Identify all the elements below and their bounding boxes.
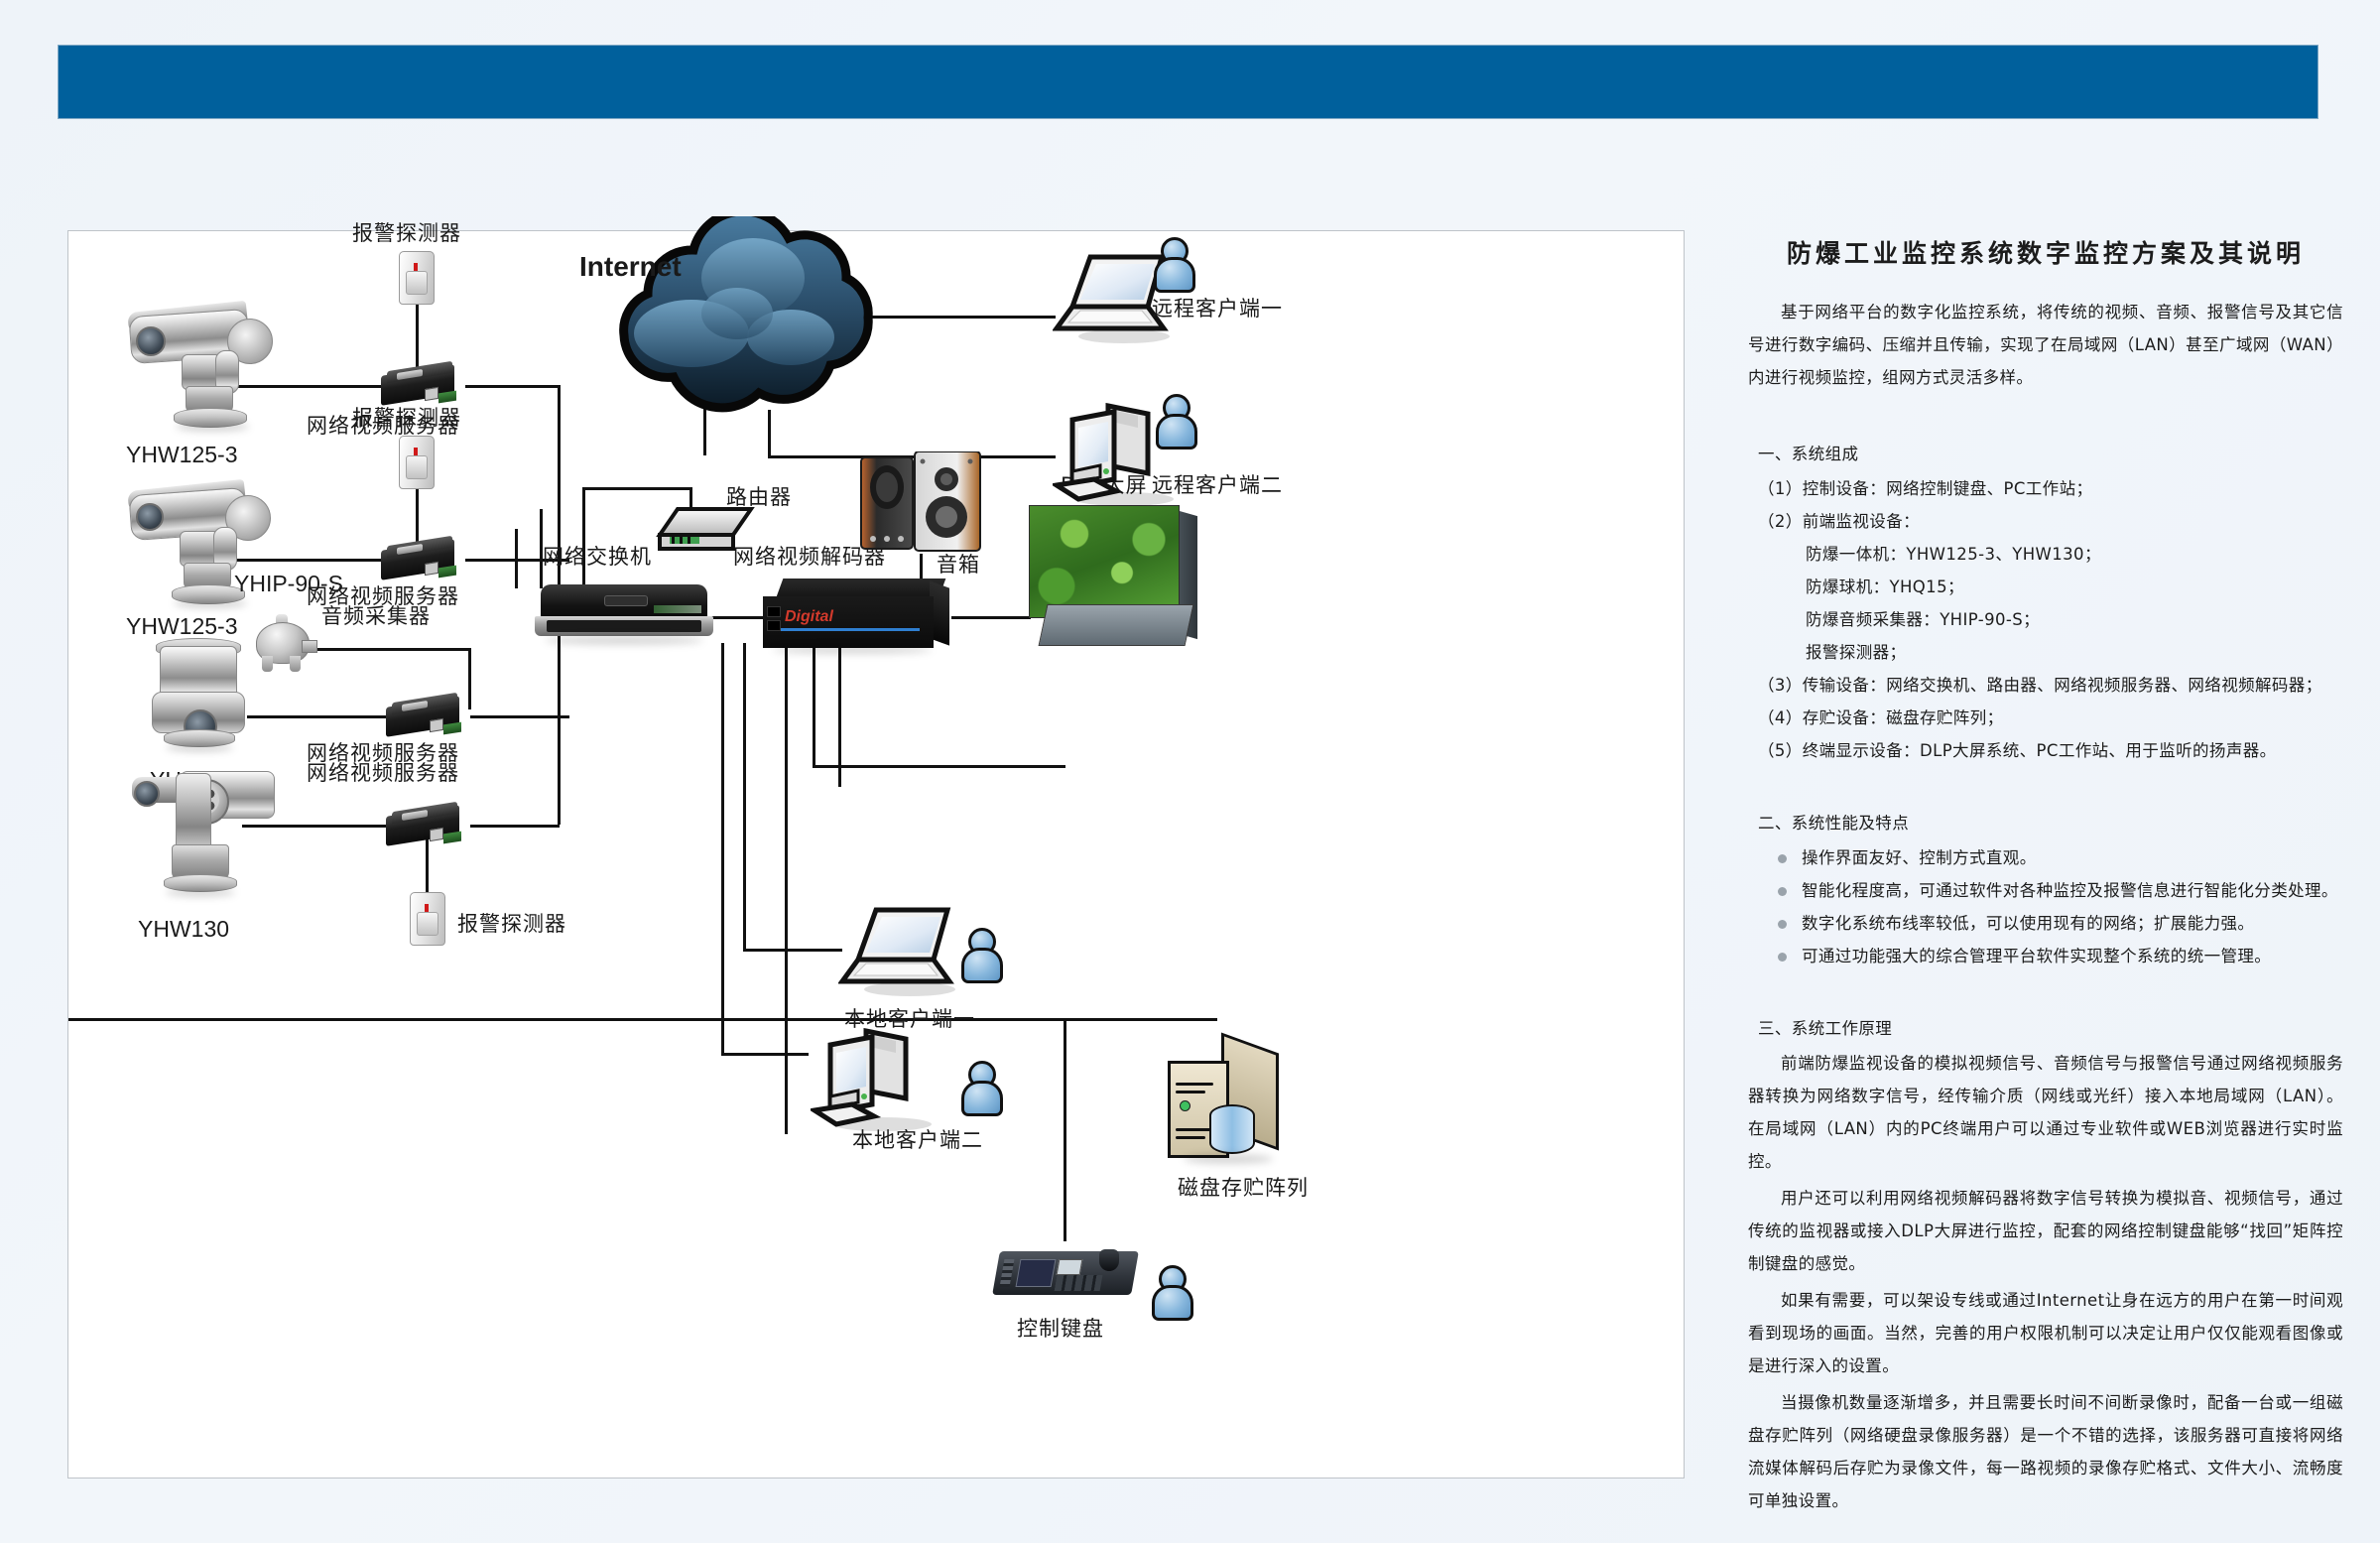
control-keyboard-label: 控制键盘 (1017, 1313, 1104, 1343)
internet-label: Internet (579, 251, 682, 283)
network-video-decoder: Digital (763, 579, 951, 656)
dlp-big-screen (1029, 505, 1197, 656)
link-cloud-to-remote1 (872, 316, 1056, 319)
section-1-item-3: （3）传输设备：网络交换机、路由器、网络视频服务器、网络视频解码器； (1758, 669, 2343, 702)
section-3-paragraph-1: 前端防爆监视设备的模拟视频信号、音频信号与报警信号通过网络视频服务器转换为网络数… (1748, 1047, 2343, 1178)
link-audio-to-vserver3 (312, 648, 470, 651)
section-3-paragraph-4: 当摄像机数量逐渐增多，并且需要长时间不间断录像时，配备一台或一组磁盘存贮阵列（网… (1748, 1386, 2343, 1517)
video-server-3 (386, 694, 471, 737)
section-1-item-4: （4）存贮设备：磁盘存贮阵列； (1758, 702, 2343, 734)
alarm-detector-1 (399, 251, 433, 303)
switch-uplink-1 (515, 529, 518, 588)
network-switch (535, 584, 713, 644)
header-accent-bar (58, 45, 2318, 119)
document-column: 防爆工业监控系统数字监控方案及其说明 基于网络平台的数字化监控系统，将传统的视频… (1748, 234, 2343, 1521)
local-client-2-label: 本地客户端二 (852, 1124, 983, 1154)
control-keyboard-avatar (1150, 1265, 1190, 1317)
link-to-local1 (743, 949, 842, 952)
alarm-detector-2-label: 报警探测器 (352, 402, 461, 432)
camera-yhw130 (124, 767, 293, 916)
section-3-heading: 三、系统工作原理 (1758, 1012, 2343, 1045)
router-label: 路由器 (726, 481, 792, 511)
alarm-detector-1-label: 报警探测器 (352, 217, 461, 247)
remote-client-1-avatar (1152, 237, 1191, 289)
section-2-bullet-2: 智能化程度高，可通过软件对各种监控及报警信息进行智能化分类处理。 (1778, 874, 2343, 907)
section-1-subitem-2: 防爆球机：YHQ15； (1806, 571, 2343, 603)
speaker-label: 音箱 (937, 549, 980, 579)
section-3-paragraph-3: 如果有需要，可以架设专线或通过Internet让身在远方的用户在第一时间观看到现… (1748, 1284, 2343, 1382)
section-1-subitem-3: 防爆音频采集器：YHIP-90-S； (1806, 603, 2343, 636)
section-2-bullet-3: 数字化系统布线率较低，可以使用现有的网络；扩展能力强。 (1778, 907, 2343, 940)
switch-uplink-router (582, 487, 585, 588)
section-3-paragraph-2: 用户还可以利用网络视频解码器将数字信号转换为模拟音、视频信号，通过传统的监视器或… (1748, 1182, 2343, 1280)
section-2-bullet-1: 操作界面友好、控制方式直观。 (1778, 841, 2343, 874)
switch-downlink-5 (721, 643, 724, 1055)
link-ckb-up (1064, 1018, 1066, 1241)
camera-yhw125-3-top (124, 289, 291, 438)
local-client-1-avatar (959, 928, 999, 979)
section-1-item-1: （1）控制设备：网络控制键盘、PC工作站； (1758, 472, 2343, 505)
disk-storage-array (1168, 1043, 1279, 1162)
remote-client-2-label: 远程客户端二 (1152, 469, 1283, 499)
network-diagram-panel: YHW125-3 报警探测器 网络视频服务器 YHW125-3 报警探测器 网络… (67, 230, 1685, 1479)
camera-yhq15 (138, 636, 267, 765)
speaker-icon (857, 451, 984, 555)
link-to-local2 (721, 1053, 809, 1056)
link-camera3-to-vserver3 (247, 715, 391, 718)
remote-client-1-label: 远程客户端一 (1152, 293, 1283, 322)
alarm-detector-3-label: 报警探测器 (457, 908, 566, 938)
decoder-brand-text: Digital (785, 608, 833, 626)
local-client-2-desktop (811, 1025, 949, 1134)
section-2-heading: 二、系统性能及特点 (1758, 807, 2343, 839)
link-vserver1-to-bus (465, 385, 560, 388)
audio-collector-yhip90s (252, 614, 312, 674)
local-client-2-avatar (959, 1061, 999, 1112)
remote-client-2-avatar (1154, 394, 1193, 446)
video-server-2 (381, 537, 466, 580)
section-1-subitem-4: 报警探测器； (1806, 636, 2343, 669)
section-2-bullet-4: 可通过功能强大的综合管理平台软件实现整个系统的统一管理。 (1778, 940, 2343, 972)
switch-downlink-2h (813, 765, 1065, 768)
camera-1-label: YHW125-3 (126, 442, 237, 468)
video-server-4 (386, 803, 471, 846)
control-keyboard (996, 1241, 1135, 1303)
section-1-heading: 一、系统组成 (1758, 438, 2343, 470)
video-server-4-label: 网络视频服务器 (307, 757, 459, 787)
link-disk-in (1064, 1018, 1217, 1021)
link-vserver3-to-switch (470, 715, 569, 718)
disk-array-label: 磁盘存贮阵列 (1178, 1172, 1309, 1202)
network-switch-label: 网络交换机 (543, 541, 652, 571)
link-vserver4-to-bus (470, 825, 560, 828)
switch-downlink-1 (785, 643, 788, 1134)
switch-downlink-3 (838, 643, 841, 787)
local-client-1-laptop (838, 906, 967, 997)
switch-downlink-4 (743, 643, 746, 951)
section-1-item-5: （5）终端显示设备：DLP大屏系统、PC工作站、用于监听的扬声器。 (1758, 734, 2343, 767)
link-decoder-to-dlp (951, 616, 1031, 619)
audio-collector-label: 音频采集器 (321, 600, 431, 630)
doc-intro: 基于网络平台的数字化监控系统，将传统的视频、音频、报警信号及其它信号进行数字编码… (1748, 296, 2343, 394)
switch-downlink-2 (813, 643, 815, 767)
alarm-detector-2 (399, 436, 433, 487)
camera-4-label: YHW130 (138, 916, 229, 943)
video-server-1 (381, 362, 466, 406)
section-1-item-2: （2）前端监视设备： (1758, 505, 2343, 538)
doc-title: 防爆工业监控系统数字监控方案及其说明 (1748, 234, 2343, 270)
switch-uplink-router-h (582, 487, 691, 490)
alarm-detector-3 (410, 892, 443, 944)
section-1-subitem-1: 防爆一体机：YHW125-3、YHW130； (1806, 538, 2343, 571)
audio-model-label: YHIP-90-S (234, 571, 343, 597)
